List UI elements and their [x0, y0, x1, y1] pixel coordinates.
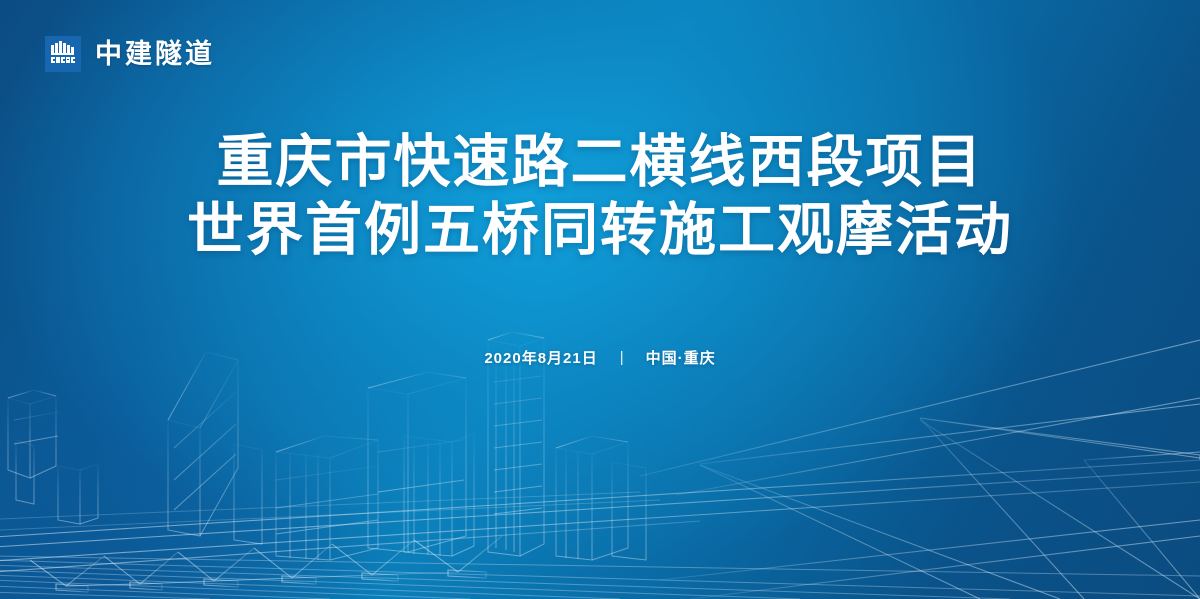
event-date: 2020年8月21日	[484, 347, 597, 368]
event-meta: 2020年8月21日 | 中国·重庆	[0, 347, 1200, 368]
cable-stay-lines	[0, 556, 1200, 599]
page-title: 重庆市快速路二横线西段项目 世界首例五桥同转施工观摩活动	[0, 128, 1200, 265]
road-geometry-right	[640, 340, 1200, 599]
cscec-logo-icon	[45, 36, 81, 72]
meta-separator: |	[620, 350, 624, 365]
headline-line-2: 世界首例五桥同转施工观摩活动	[0, 196, 1200, 264]
bridge-wireframe	[0, 460, 1200, 592]
brand-logo: 中建隧道	[45, 36, 215, 72]
horizon-lines	[0, 492, 660, 530]
event-banner: 中建隧道 重庆市快速路二横线西段项目 世界首例五桥同转施工观摩活动 2020年8…	[0, 0, 1200, 599]
background-line-art	[0, 0, 1200, 599]
event-location: 中国·重庆	[646, 347, 716, 368]
brand-name: 中建隧道	[95, 41, 215, 68]
headline-line-1: 重庆市快速路二横线西段项目	[0, 128, 1200, 196]
